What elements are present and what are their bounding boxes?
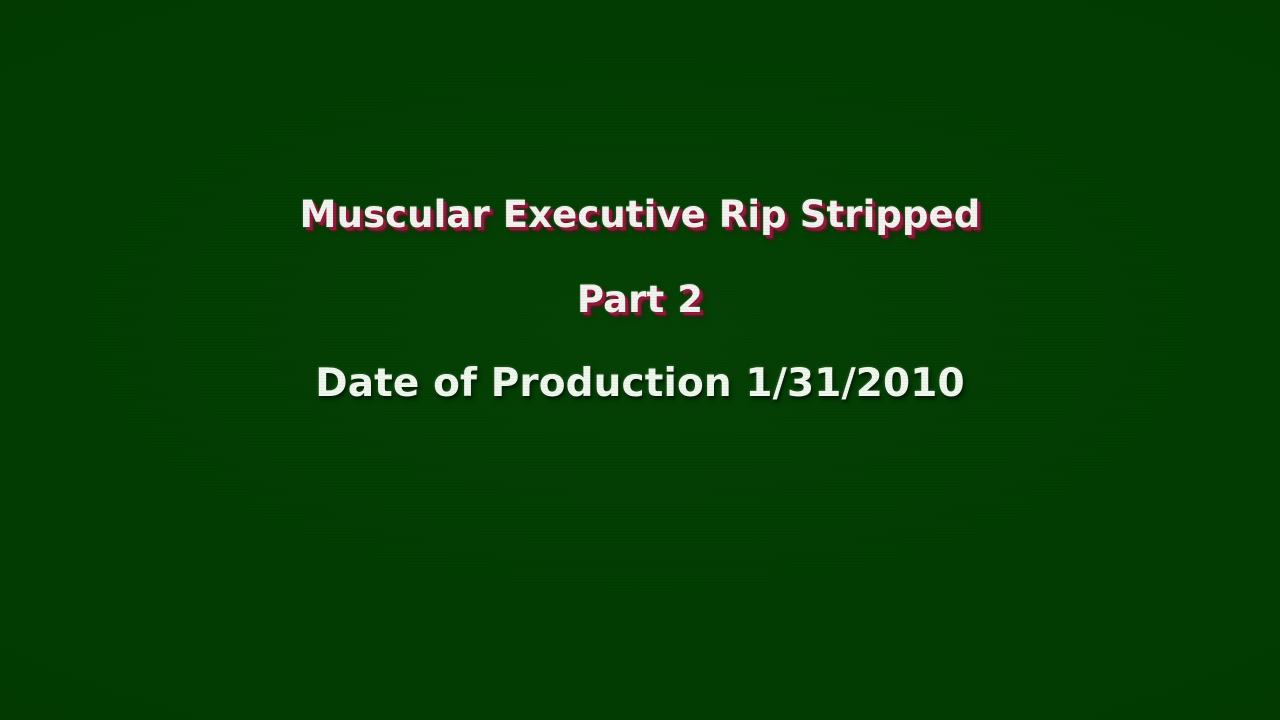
production-title: Muscular Executive Rip Stripped: [300, 196, 981, 233]
title-text-stack: Muscular Executive Rip Stripped Part 2 D…: [0, 196, 1280, 403]
video-title-card-frame: Muscular Executive Rip Stripped Part 2 D…: [0, 0, 1280, 720]
date-of-production-label: Date of Production 1/31/2010: [315, 364, 965, 403]
part-number-label: Part 2: [577, 281, 703, 318]
